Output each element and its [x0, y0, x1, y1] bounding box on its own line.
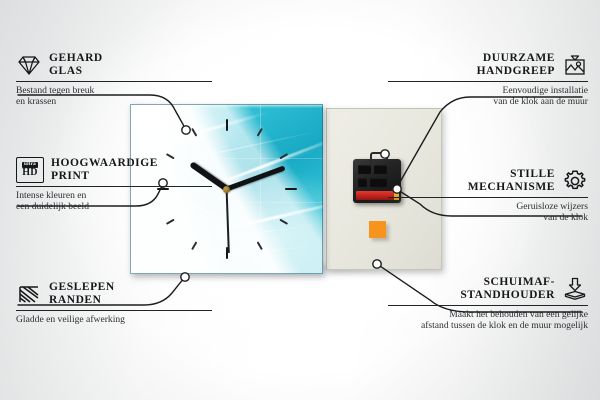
feature-description: Bestand tegen breuk en krassen — [16, 85, 212, 108]
feature-header: GEHARD GLAS — [16, 52, 212, 78]
feature-divider — [388, 197, 588, 198]
feature-title: STILLE MECHANISME — [388, 168, 555, 194]
ultra-hd-badge-icon: ultra HD — [16, 157, 44, 183]
feature-divider — [388, 81, 588, 82]
feature-divider — [16, 310, 212, 311]
feature-description: Eenvoudige installatie van de klok aan d… — [388, 85, 588, 108]
feature-header: STILLE MECHANISME — [388, 168, 588, 194]
feature-header: SCHUIMAF- STANDHOUDER — [388, 276, 588, 302]
feature-duurzame-handgreep: DUURZAME HANDGREEP Eenvoudige installati… — [388, 52, 588, 108]
diamond-icon — [16, 52, 42, 78]
feature-schuimafstandhouder: SCHUIMAF- STANDHOUDER Maakt het behouden… — [388, 276, 588, 332]
feature-title: HOOGWAARDIGE PRINT — [51, 157, 158, 183]
diagonal-lines-icon — [16, 281, 42, 307]
feature-title: GESLEPEN RANDEN — [49, 281, 115, 307]
feature-divider — [388, 305, 588, 306]
feature-gehard-glas: GEHARD GLAS Bestand tegen breuk en krass… — [16, 52, 212, 108]
feature-description: Maakt het behouden van een gelijke afsta… — [388, 309, 588, 332]
feature-title: DUURZAME HANDGREEP — [388, 52, 555, 78]
feature-header: GESLEPEN RANDEN — [16, 281, 212, 307]
feature-description: Intense kleuren en een duidelijk beeld — [16, 190, 212, 213]
feature-header: ultra HD HOOGWAARDIGE PRINT — [16, 157, 212, 183]
mechanism-slot — [370, 178, 387, 187]
infographic-canvas: GEHARD GLAS Bestand tegen breuk en krass… — [0, 0, 600, 400]
mechanism-slot — [358, 165, 371, 174]
gear-icon — [562, 168, 588, 194]
press-down-pad-icon — [562, 276, 588, 302]
feature-hoogwaardige-print: ultra HD HOOGWAARDIGE PRINT Intense kleu… — [16, 157, 212, 213]
feature-description: Geruisloze wijzers van de klok — [388, 201, 588, 224]
feature-description: Gladde en veilige afwerking — [16, 314, 212, 325]
framed-picture-icon — [562, 52, 588, 78]
feature-title: GEHARD GLAS — [49, 52, 103, 78]
feature-divider — [16, 81, 212, 82]
feature-geslepen-randen: GESLEPEN RANDEN Gladde en veilige afwerk… — [16, 281, 212, 325]
mechanism-slot — [374, 165, 387, 174]
feature-stille-mechanisme: STILLE MECHANISME Geruisloze wijzers van… — [388, 168, 588, 224]
feature-title: SCHUIMAF- STANDHOUDER — [388, 276, 555, 302]
hanging-tab-icon — [370, 152, 388, 163]
mechanism-slot — [358, 178, 367, 187]
feature-header: DUURZAME HANDGREEP — [388, 52, 588, 78]
foam-spacer-pad — [369, 221, 386, 238]
feature-divider — [16, 186, 212, 187]
